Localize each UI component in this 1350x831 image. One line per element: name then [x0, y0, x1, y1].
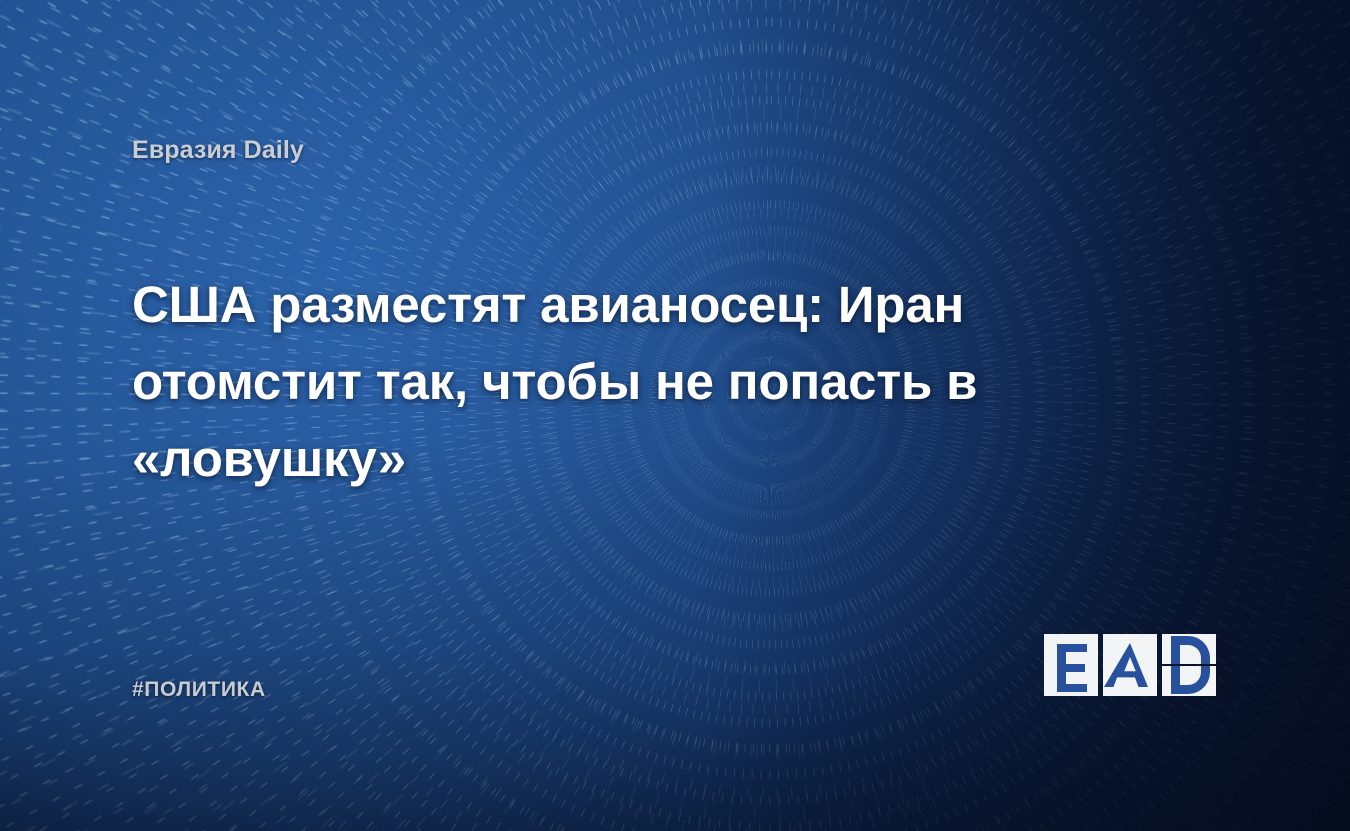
headline: США разместят авианосец: Иран отомстит т… [132, 266, 1032, 497]
ead-logo [1044, 634, 1216, 696]
logo-letter-d-bottom-icon [1162, 666, 1216, 696]
logo-letter-d-top-icon [1162, 634, 1216, 664]
logo-tile-d-bottom [1162, 666, 1216, 696]
news-share-card: Евразия Daily США разместят авианосец: И… [0, 0, 1350, 831]
logo-letter-a-icon [1103, 634, 1157, 696]
logo-tile-d-top [1162, 634, 1216, 664]
logo-tile-e [1044, 634, 1098, 696]
logo-tile-a [1103, 634, 1157, 696]
card-content: Евразия Daily США разместят авианосец: И… [0, 0, 1350, 831]
category-tag[interactable]: #ПОЛИТИКА [132, 678, 266, 702]
logo-tile-d [1162, 634, 1216, 696]
site-name: Евразия Daily [132, 136, 304, 165]
logo-letter-e-icon [1044, 634, 1098, 696]
